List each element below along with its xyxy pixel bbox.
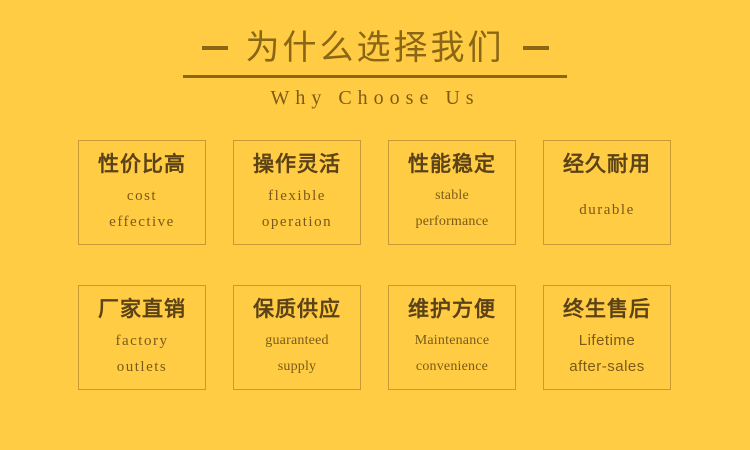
feature-subtext-line: outlets	[116, 354, 169, 380]
page-title: 为什么选择我们	[246, 28, 505, 68]
feature-subtext-line: flexible	[262, 183, 332, 209]
title-underline	[183, 75, 567, 78]
feature-card: 厂家直销 factory outlets	[78, 285, 206, 390]
feature-subtext: flexible operation	[262, 183, 332, 235]
feature-card: 操作灵活 flexible operation	[233, 140, 361, 245]
feature-grid: 性价比高 cost effective 操作灵活 flexible operat…	[78, 140, 672, 390]
feature-subtext-line: effective	[109, 209, 175, 235]
feature-subtext: stable performance	[416, 183, 489, 235]
feature-subtext-line: Maintenance	[415, 328, 490, 354]
feature-subtext: Maintenance convenience	[415, 328, 490, 380]
feature-card: 保质供应 guaranteed supply	[233, 285, 361, 390]
feature-subtext: Lifetime after-sales	[569, 328, 645, 380]
feature-subtext-line: after-sales	[569, 354, 645, 380]
feature-subtext: guaranteed supply	[265, 328, 328, 380]
feature-subtext-line: performance	[416, 209, 489, 235]
why-choose-us-banner: 为什么选择我们 Why Choose Us 性价比高 cost effectiv…	[0, 0, 750, 450]
feature-heading: 性价比高	[98, 152, 186, 178]
feature-card: 性能稳定 stable performance	[388, 140, 516, 245]
feature-heading: 保质供应	[253, 297, 341, 323]
title-dash-right-icon	[523, 46, 549, 50]
feature-heading: 性能稳定	[408, 152, 496, 178]
title-row: 为什么选择我们	[0, 26, 750, 70]
feature-subtext-line: guaranteed	[265, 328, 328, 354]
title-dash-left-icon	[202, 46, 228, 50]
feature-heading: 维护方便	[408, 297, 496, 323]
feature-subtext-line: operation	[262, 209, 332, 235]
feature-card: 终生售后 Lifetime after-sales	[543, 285, 671, 390]
feature-card: 性价比高 cost effective	[78, 140, 206, 245]
feature-subtext-line: cost	[109, 183, 175, 209]
feature-subtext-line: durable	[579, 197, 634, 223]
feature-subtext-line: supply	[265, 354, 328, 380]
feature-heading: 终生售后	[563, 297, 651, 323]
feature-heading: 经久耐用	[563, 152, 651, 178]
page-subtitle: Why Choose Us	[0, 87, 750, 110]
feature-heading: 厂家直销	[98, 297, 186, 323]
feature-subtext-line: Lifetime	[569, 328, 645, 354]
feature-card: 经久耐用 durable	[543, 140, 671, 245]
feature-subtext-line: factory	[116, 328, 169, 354]
banner-header: 为什么选择我们 Why Choose Us	[0, 26, 750, 110]
feature-heading: 操作灵活	[253, 152, 341, 178]
feature-subtext-line: stable	[416, 183, 489, 209]
feature-subtext-line: convenience	[415, 354, 490, 380]
feature-card: 维护方便 Maintenance convenience	[388, 285, 516, 390]
feature-subtext: factory outlets	[116, 328, 169, 380]
feature-subtext: cost effective	[109, 183, 175, 235]
feature-subtext: durable	[579, 197, 634, 223]
